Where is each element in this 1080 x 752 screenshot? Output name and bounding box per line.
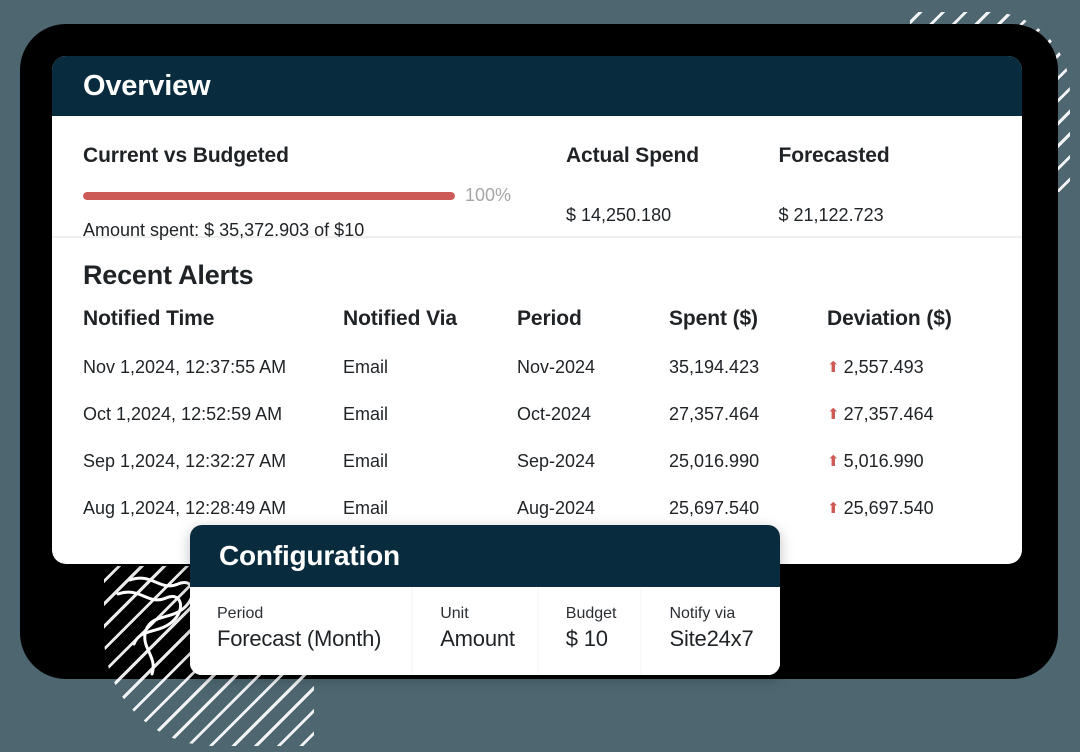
table-row: Oct 1,2024, 12:52:59 AMEmailOct-202427,3… xyxy=(83,404,991,451)
column-header-spent: Spent ($) xyxy=(669,307,827,357)
actual-spend-block: Actual Spend $ 14,250.180 xyxy=(566,144,779,216)
cell-period: Nov-2024 xyxy=(517,357,669,404)
configuration-title: Configuration xyxy=(219,540,400,572)
configuration-card: Configuration PeriodForecast (Month)Unit… xyxy=(190,525,780,675)
page-title: Overview xyxy=(83,70,210,103)
table-row: Nov 1,2024, 12:37:55 AMEmailNov-202435,1… xyxy=(83,357,991,404)
cell-spent: 25,016.990 xyxy=(669,451,827,498)
config-item-label: Unit xyxy=(440,604,537,624)
overview-summary: Current vs Budgeted 100% Amount spent: $… xyxy=(52,116,1022,236)
config-item-value: Amount xyxy=(440,625,537,654)
cell-notified-time: Nov 1,2024, 12:37:55 AM xyxy=(83,357,343,404)
amount-spent-text: Amount spent: $ 35,372.903 of $10 xyxy=(83,220,566,241)
actual-spend-value: $ 14,250.180 xyxy=(566,205,779,226)
config-item-label: Budget xyxy=(566,604,641,624)
config-item-unit[interactable]: UnitAmount xyxy=(413,587,537,675)
cell-spent: 35,194.423 xyxy=(669,357,827,404)
cell-period: Sep-2024 xyxy=(517,451,669,498)
cell-deviation: ⬆27,357.464 xyxy=(827,404,991,451)
configuration-items: PeriodForecast (Month)UnitAmountBudget$ … xyxy=(190,587,780,675)
column-header-period: Period xyxy=(517,307,669,357)
cell-notified-via: Email xyxy=(343,404,517,451)
configuration-card-header: Configuration xyxy=(190,525,780,587)
forecasted-block: Forecasted $ 21,122.723 xyxy=(779,144,992,216)
table-row: Sep 1,2024, 12:32:27 AMEmailSep-202425,0… xyxy=(83,451,991,498)
cell-notified-time: Oct 1,2024, 12:52:59 AM xyxy=(83,404,343,451)
cell-notified-via: Email xyxy=(343,451,517,498)
cell-notified-time: Sep 1,2024, 12:32:27 AM xyxy=(83,451,343,498)
forecasted-label: Forecasted xyxy=(779,144,992,168)
config-item-label: Period xyxy=(217,604,411,624)
config-item-value: Site24x7 xyxy=(669,625,780,654)
forecasted-value: $ 21,122.723 xyxy=(779,205,992,226)
arrow-up-icon: ⬆ xyxy=(827,499,840,517)
actual-spend-label: Actual Spend xyxy=(566,144,779,168)
current-vs-budgeted-block: Current vs Budgeted 100% Amount spent: $… xyxy=(83,144,566,216)
config-item-value: Forecast (Month) xyxy=(217,625,411,654)
config-item-period[interactable]: PeriodForecast (Month) xyxy=(190,587,411,675)
column-header-notified-time: Notified Time xyxy=(83,307,343,357)
cell-notified-via: Email xyxy=(343,357,517,404)
recent-alerts-title: Recent Alerts xyxy=(83,260,991,291)
config-item-label: Notify via xyxy=(669,604,780,624)
table-header-row: Notified Time Notified Via Period Spent … xyxy=(83,307,991,357)
column-header-deviation: Deviation ($) xyxy=(827,307,991,357)
overview-card-header: Overview xyxy=(52,56,1022,116)
cell-deviation: ⬆25,697.540 xyxy=(827,498,991,545)
arrow-up-icon: ⬆ xyxy=(827,405,840,423)
cell-deviation: ⬆5,016.990 xyxy=(827,451,991,498)
recent-alerts-table: Notified Time Notified Via Period Spent … xyxy=(83,307,991,545)
config-item-value: $ 10 xyxy=(566,625,641,654)
budget-progress-percent: 100% xyxy=(465,185,511,206)
cell-period: Oct-2024 xyxy=(517,404,669,451)
config-item-budget[interactable]: Budget$ 10 xyxy=(539,587,641,675)
config-item-notify-via[interactable]: Notify viaSite24x7 xyxy=(642,587,780,675)
recent-alerts-section: Recent Alerts Notified Time Notified Via… xyxy=(52,238,1022,545)
cell-deviation: ⬆2,557.493 xyxy=(827,357,991,404)
current-vs-budgeted-label: Current vs Budgeted xyxy=(83,144,566,168)
arrow-up-icon: ⬆ xyxy=(827,358,840,376)
arrow-up-icon: ⬆ xyxy=(827,452,840,470)
cell-spent: 27,357.464 xyxy=(669,404,827,451)
overview-card: Overview Current vs Budgeted 100% Amount… xyxy=(52,56,1022,564)
column-header-notified-via: Notified Via xyxy=(343,307,517,357)
budget-progress-fill xyxy=(83,192,455,200)
budget-progress-bar xyxy=(83,192,455,200)
budget-progress-row: 100% xyxy=(83,185,566,206)
